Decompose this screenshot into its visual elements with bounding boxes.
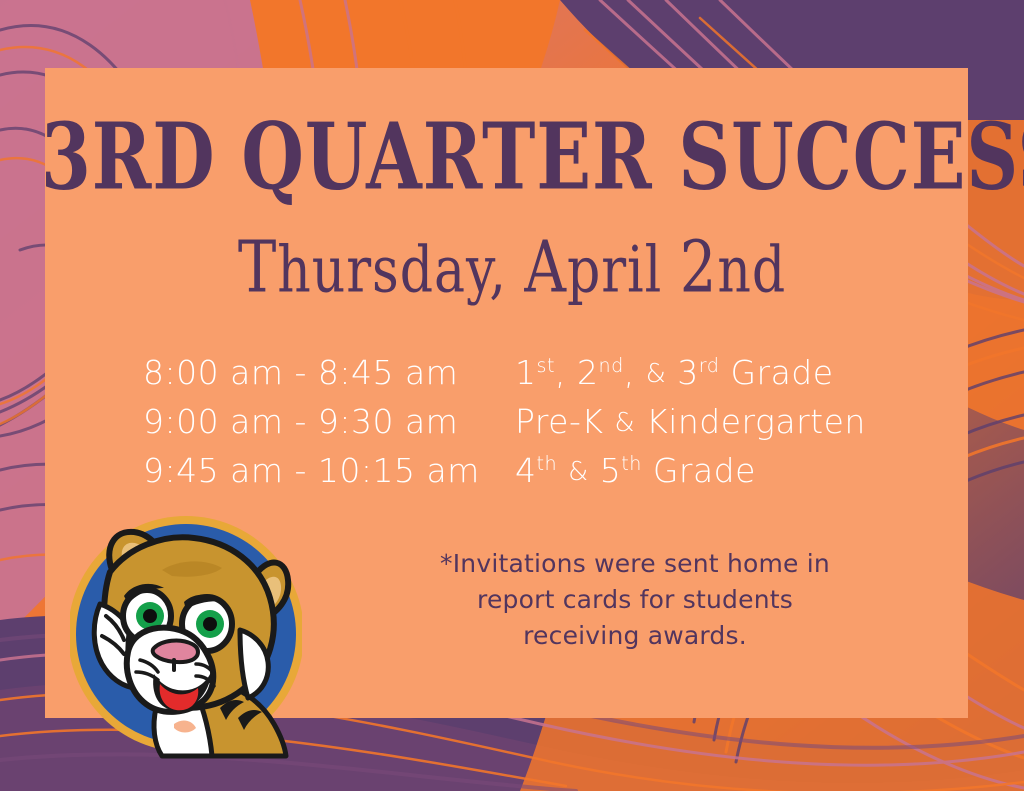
subtitle-numeral-2: 2 bbox=[680, 225, 718, 308]
subtitle-cap-t: T bbox=[238, 225, 277, 308]
note-line-1: *Invitations were sent home in bbox=[400, 546, 870, 582]
grade-separator bbox=[557, 451, 568, 490]
ampersand-icon: & bbox=[568, 448, 589, 497]
grade-ordinal-rd: rd bbox=[699, 354, 720, 377]
subtitle-text-hursday: hursday, bbox=[277, 233, 524, 307]
event-date-subtitle: Thursday, April 2nd bbox=[36, 232, 988, 303]
ampersand-icon: & bbox=[646, 350, 667, 399]
invitation-note: *Invitations were sent home in report ca… bbox=[400, 546, 870, 654]
grade-ordinal-st: st bbox=[537, 354, 555, 377]
grade-label-prek: Pre-K bbox=[515, 402, 615, 441]
subtitle-cap-a: A bbox=[524, 225, 567, 308]
subtitle-ordinal-nd: nd bbox=[717, 233, 786, 307]
cougar-mascot-logo bbox=[70, 512, 302, 762]
note-line-2: report cards for students bbox=[400, 582, 870, 618]
grade-label-tail: Grade bbox=[719, 353, 833, 392]
grade-label-kindergarten: Kindergarten bbox=[635, 402, 866, 441]
grade-numeral-2: 2 bbox=[577, 353, 599, 392]
page-title: 3rd Quarter Success Day bbox=[41, 112, 983, 204]
schedule-grades-column: 1st, 2nd, & 3rd Grade Pre-K & Kindergart… bbox=[515, 348, 968, 495]
schedule-time-row: 8:00 am - 8:45 am bbox=[143, 348, 515, 397]
schedule-times-column: 8:00 am - 8:45 am 9:00 am - 9:30 am 9:45… bbox=[45, 348, 515, 495]
grade-label-tail: Grade bbox=[642, 451, 756, 490]
grade-numeral-3: 3 bbox=[666, 353, 699, 392]
grade-separator: , bbox=[555, 353, 577, 392]
schedule-time-row: 9:00 am - 9:30 am bbox=[143, 397, 515, 446]
schedule-table: 8:00 am - 8:45 am 9:00 am - 9:30 am 9:45… bbox=[45, 348, 968, 495]
grade-numeral-5: 5 bbox=[589, 451, 622, 490]
poster-canvas: 3rd Quarter Success Day Thursday, April … bbox=[0, 0, 1024, 791]
schedule-grade-row: Pre-K & Kindergarten bbox=[515, 397, 968, 446]
schedule-time-row: 9:45 am - 10:15 am bbox=[143, 446, 515, 495]
grade-ordinal-th: th bbox=[537, 452, 558, 475]
schedule-grade-row: 1st, 2nd, & 3rd Grade bbox=[515, 348, 968, 397]
grade-numeral-4: 4 bbox=[515, 451, 537, 490]
grade-ordinal-th: th bbox=[621, 452, 642, 475]
grade-ordinal-nd: nd bbox=[598, 354, 623, 377]
schedule-grade-row: 4th & 5th Grade bbox=[515, 446, 968, 495]
grade-numeral-1: 1 bbox=[515, 353, 537, 392]
subtitle-text-pril: pril bbox=[567, 233, 680, 307]
ampersand-icon: & bbox=[615, 399, 636, 448]
note-line-3: receiving awards. bbox=[400, 618, 870, 654]
grade-separator: , bbox=[624, 353, 646, 392]
